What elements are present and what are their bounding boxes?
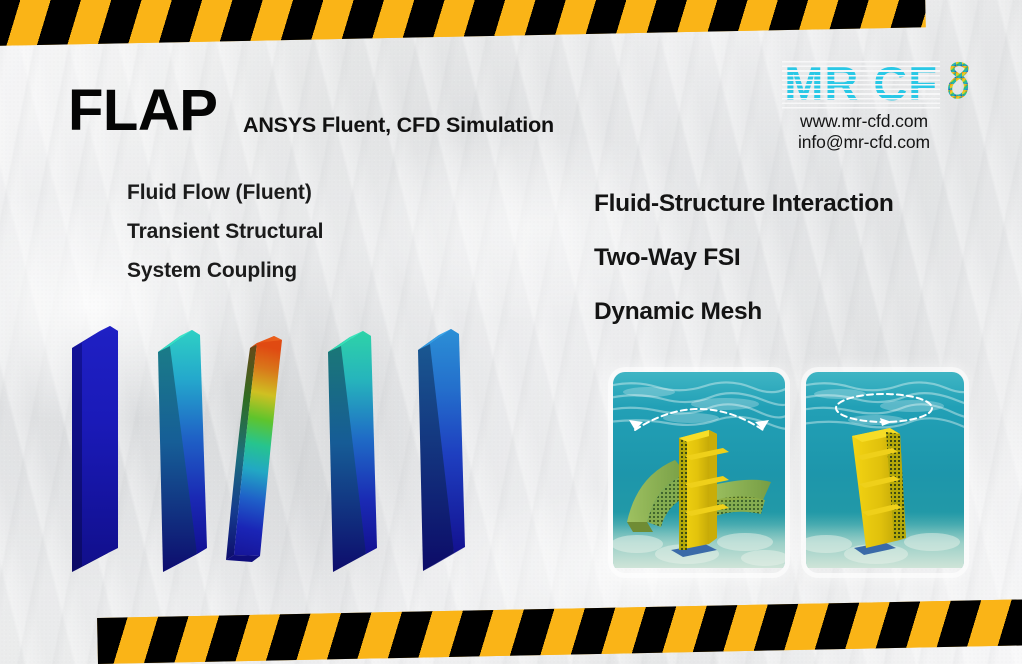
logo-mark: MRCF (754, 57, 974, 109)
logo-website[interactable]: www.mr-cfd.com (754, 111, 974, 132)
feature-list-left: Fluid Flow (Fluent) Transient Structural… (127, 181, 323, 298)
feature-item-two-way-fsi: Two-Way FSI (594, 244, 894, 272)
page-title: FLAP (68, 82, 217, 140)
logo-wordmark: MRCF (784, 60, 938, 107)
feature-item-transient-structural: Transient Structural (127, 220, 323, 244)
underwater-panel-single (806, 372, 964, 573)
feature-item-fsi: Fluid-Structure Interaction (594, 190, 894, 218)
logo-text-mr: MR (784, 57, 859, 110)
feature-item-fluid-flow: Fluid Flow (Fluent) (127, 181, 323, 205)
logo-text-cf: CF (873, 57, 938, 110)
underwater-panel-1-wrapper (613, 372, 785, 573)
flap-5 (418, 329, 465, 571)
underwater-panel-two-way (613, 372, 785, 573)
feature-list-right: Fluid-Structure Interaction Two-Way FSI … (594, 190, 894, 352)
hazard-stripe-top (0, 0, 926, 46)
flap-deformation-figure (60, 310, 510, 585)
page-subtitle: ANSYS Fluent, CFD Simulation (243, 113, 554, 138)
hazard-stripe-bottom (97, 599, 1022, 664)
feature-item-system-coupling: System Coupling (127, 259, 323, 283)
flap-2 (158, 330, 207, 572)
flap-4 (328, 331, 377, 572)
brand-logo[interactable]: MRCF (754, 57, 974, 154)
flap-1 (72, 326, 118, 572)
poster-canvas: FLAP ANSYS Fluent, CFD Simulation MRCF (0, 0, 1022, 664)
logo-email[interactable]: info@mr-cfd.com (754, 132, 974, 153)
feature-item-dynamic-mesh: Dynamic Mesh (594, 298, 894, 326)
logo-contact[interactable]: www.mr-cfd.com info@mr-cfd.com (754, 111, 974, 154)
flap-3 (226, 336, 282, 562)
delta-icon (944, 60, 974, 106)
underwater-panel-2-wrapper (806, 372, 964, 573)
